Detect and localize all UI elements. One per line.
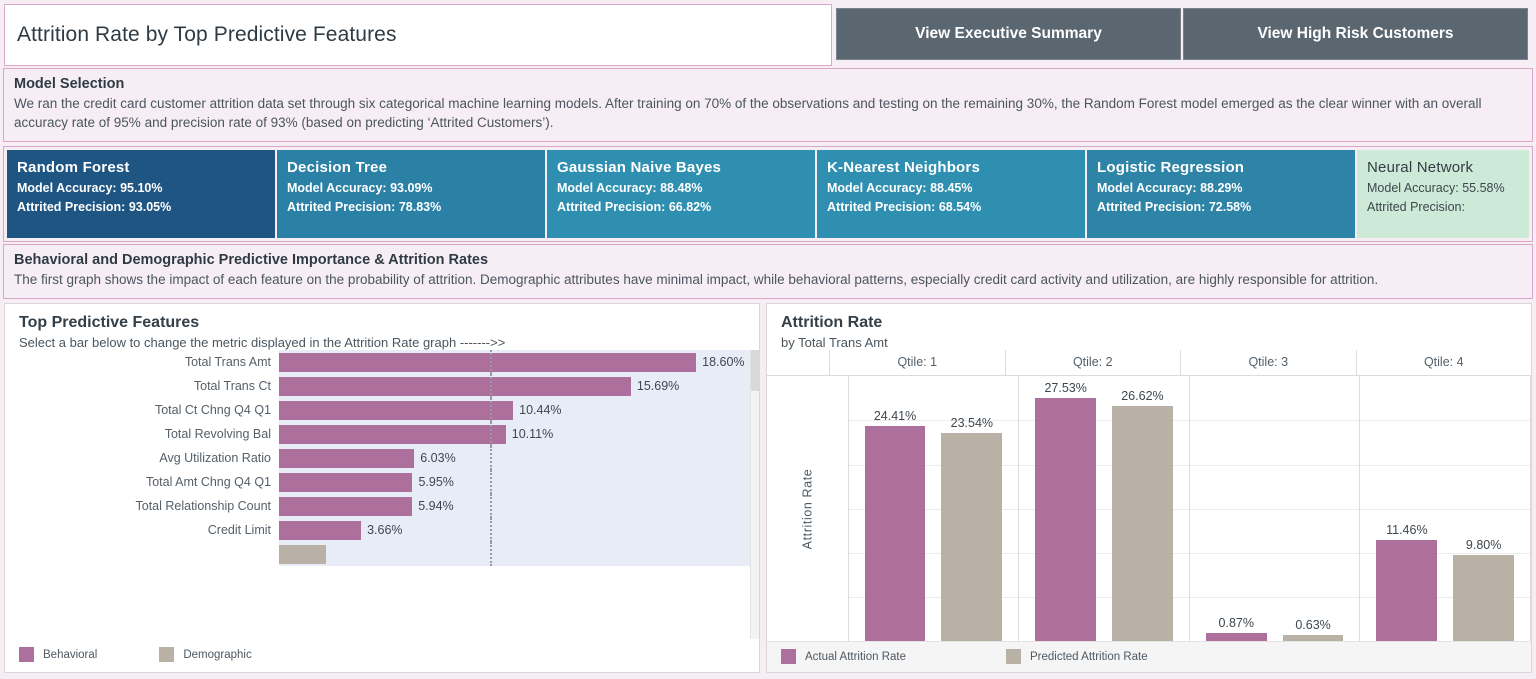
model-accuracy: Model Accuracy: 55.58% — [1367, 179, 1519, 198]
feature-bar-track: 18.60% — [279, 350, 750, 374]
model-name: Gaussian Naive Bayes — [557, 159, 805, 176]
feature-bar-row[interactable]: Total Trans Amt18.60% — [17, 350, 750, 374]
precision-value: 66.82% — [669, 200, 711, 214]
feature-bar-track: 6.03% — [279, 446, 750, 470]
feature-bar-value: 6.03% — [420, 451, 455, 465]
feature-bar-value: 10.44% — [519, 403, 561, 417]
page-title-container: Attrition Rate by Top Predictive Feature… — [4, 4, 832, 66]
feature-bar-value: 3.66% — [367, 523, 402, 537]
quartile-header-cell: Qtile: 4 — [1356, 350, 1532, 375]
chart-title: Top Predictive Features — [19, 314, 759, 332]
attrition-rate-legend: Actual Attrition Rate Predicted Attritio… — [767, 641, 1531, 672]
dashboard-header: Attrition Rate by Top Predictive Feature… — [0, 0, 1536, 68]
precision-value: 68.54% — [939, 200, 981, 214]
legend-swatch-actual — [781, 649, 796, 664]
accuracy-label: Model Accuracy: — [557, 181, 657, 195]
chart-title: Attrition Rate — [781, 314, 1531, 332]
feature-bar-row[interactable]: Credit Limit3.66% — [17, 518, 750, 542]
feature-bar-value: 15.69% — [637, 379, 679, 393]
feature-bar-track: 3.66% — [279, 518, 750, 542]
legend-label: Actual Attrition Rate — [805, 651, 906, 663]
accuracy-label: Model Accuracy: — [287, 181, 387, 195]
quartile-group: 24.41%23.54% — [848, 376, 1019, 641]
model-name: K-Nearest Neighbors — [827, 159, 1075, 176]
horizontal-bar-rows: Total Trans Amt18.60%Total Trans Ct15.69… — [17, 350, 750, 639]
chart-subtitle: by Total Trans Amt — [781, 335, 1531, 350]
y-axis-label: Attrition Rate — [767, 376, 848, 641]
importance-section-panel: Behavioral and Demographic Predictive Im… — [3, 244, 1533, 299]
top-predictive-features-card: Top Predictive Features Select a bar bel… — [4, 303, 760, 673]
quartile-header-row: Qtile: 1Qtile: 2Qtile: 3Qtile: 4 — [767, 350, 1531, 376]
precision-label: Attrited Precision: — [557, 200, 665, 214]
feature-bar-label: Avg Utilization Ratio — [17, 451, 279, 465]
feature-bar-value: 18.60% — [702, 355, 744, 369]
accuracy-label: Model Accuracy: — [1097, 181, 1197, 195]
attrition-bar-wrapper: 0.63% — [1283, 376, 1344, 641]
model-precision: Attrited Precision: 66.82% — [557, 198, 805, 217]
importance-section-body: The first graph shows the impact of each… — [14, 270, 1522, 289]
feature-bar-label: Total Revolving Bal — [17, 427, 279, 441]
accuracy-value: 88.29% — [1200, 181, 1242, 195]
feature-bar[interactable] — [279, 497, 412, 516]
feature-bar-value: 5.95% — [418, 475, 453, 489]
attrition-rate-card: Attrition Rate by Total Trans Amt Qtile:… — [766, 303, 1532, 673]
feature-bar-row[interactable]: Total Amt Chng Q4 Q15.95% — [17, 470, 750, 494]
precision-value: 93.05% — [129, 200, 171, 214]
model-precision: Attrited Precision: 78.83% — [287, 198, 535, 217]
attrition-bar-value: 24.41% — [874, 409, 916, 423]
precision-label: Attrited Precision: — [1097, 200, 1205, 214]
accuracy-value: 88.45% — [930, 181, 972, 195]
feature-bar[interactable] — [279, 473, 412, 492]
feature-bar-value: 5.94% — [418, 499, 453, 513]
chart-subtitle: Select a bar below to change the metric … — [19, 335, 759, 350]
model-accuracy: Model Accuracy: 88.45% — [827, 179, 1075, 198]
attrition-rate-plot: Qtile: 1Qtile: 2Qtile: 3Qtile: 4 Attriti… — [767, 350, 1531, 641]
feature-bar-label: Total Trans Ct — [17, 379, 279, 393]
quartile-header-cell: Qtile: 3 — [1180, 350, 1356, 375]
feature-bar-row[interactable] — [17, 542, 750, 566]
model-precision: Attrited Precision: — [1367, 198, 1519, 217]
model-card-decision-tree[interactable]: Decision Tree Model Accuracy: 93.09% Att… — [277, 150, 545, 238]
feature-bar-row[interactable]: Total Trans Ct15.69% — [17, 374, 750, 398]
model-name: Logistic Regression — [1097, 159, 1345, 176]
model-card-k-nearest-neighbors[interactable]: K-Nearest Neighbors Model Accuracy: 88.4… — [817, 150, 1085, 238]
feature-bar-track: 5.95% — [279, 470, 750, 494]
reference-line — [490, 374, 492, 398]
model-card-gaussian-naive-bayes[interactable]: Gaussian Naive Bayes Model Accuracy: 88.… — [547, 150, 815, 238]
attrition-bar-value: 0.63% — [1295, 618, 1330, 632]
model-selection-title: Model Selection — [14, 76, 1522, 92]
feature-bar-track: 10.11% — [279, 422, 750, 446]
page-title: Attrition Rate by Top Predictive Feature… — [17, 23, 397, 47]
attrition-bar-wrapper: 26.62% — [1112, 376, 1173, 641]
quartile-header-cell: Qtile: 2 — [1005, 350, 1181, 375]
attrition-bar-value: 23.54% — [951, 416, 993, 430]
feature-bar-track: 10.44% — [279, 398, 750, 422]
quartile-header-cell: Qtile: 1 — [829, 350, 1005, 375]
feature-bar-track: 15.69% — [279, 374, 750, 398]
attrition-bar-wrapper: 23.54% — [941, 376, 1002, 641]
view-executive-summary-button[interactable]: View Executive Summary — [836, 8, 1181, 60]
attrition-bar[interactable] — [1206, 633, 1267, 641]
top-predictive-features-plot: Total Trans Amt18.60%Total Trans Ct15.69… — [5, 350, 759, 639]
legend-item-demographic[interactable]: Demographic — [159, 647, 251, 662]
reference-line — [490, 542, 492, 566]
feature-bar[interactable] — [279, 401, 513, 420]
reference-line — [490, 350, 492, 374]
attrition-bar[interactable] — [941, 433, 1002, 641]
feature-bar-label: Total Trans Amt — [17, 355, 279, 369]
accuracy-value: 55.58% — [1462, 181, 1504, 195]
attrition-bar-value: 11.46% — [1386, 523, 1427, 537]
attrition-bar-value: 9.80% — [1466, 538, 1501, 552]
attrition-bar-value: 0.87% — [1219, 616, 1254, 630]
model-precision: Attrited Precision: 72.58% — [1097, 198, 1345, 217]
legend-item-behavioral[interactable]: Behavioral — [19, 647, 97, 662]
legend-item-actual-attrition-rate[interactable]: Actual Attrition Rate — [781, 649, 906, 664]
legend-swatch-behavioral — [19, 647, 34, 662]
precision-value: 78.83% — [399, 200, 441, 214]
legend-swatch-demographic — [159, 647, 174, 662]
feature-bar-label: Total Amt Chng Q4 Q1 — [17, 475, 279, 489]
feature-bar-row[interactable]: Total Relationship Count5.94% — [17, 494, 750, 518]
top-predictive-features-header: Top Predictive Features Select a bar bel… — [5, 304, 759, 350]
model-accuracy: Model Accuracy: 88.29% — [1097, 179, 1345, 198]
accuracy-label: Model Accuracy: — [1367, 181, 1459, 195]
feature-bar-track — [279, 542, 750, 566]
feature-bar-value: 10.11% — [512, 427, 553, 441]
attrition-bar[interactable] — [1112, 406, 1173, 641]
model-name: Neural Network — [1367, 159, 1519, 176]
attrition-bar[interactable] — [1453, 555, 1514, 641]
model-accuracy: Model Accuracy: 93.09% — [287, 179, 535, 198]
legend-label: Predicted Attrition Rate — [1030, 651, 1148, 663]
precision-label: Attrited Precision: — [17, 200, 125, 214]
plot-vertical-scrollbar[interactable] — [750, 350, 759, 639]
feature-bar-track: 5.94% — [279, 494, 750, 518]
feature-bar[interactable] — [279, 521, 361, 540]
model-card-neural-network[interactable]: Neural Network Model Accuracy: 55.58% At… — [1357, 150, 1529, 238]
attrition-bar[interactable] — [1035, 398, 1096, 641]
model-selection-panel: Model Selection We ran the credit card c… — [3, 68, 1533, 142]
model-accuracy: Model Accuracy: 88.48% — [557, 179, 805, 198]
header-nav-buttons: View Executive Summary View High Risk Cu… — [832, 4, 1532, 66]
charts-row: Top Predictive Features Select a bar bel… — [0, 301, 1536, 679]
attrition-bar-value: 27.53% — [1044, 381, 1086, 395]
attrition-bar[interactable] — [865, 426, 926, 641]
attrition-bar-value: 26.62% — [1121, 389, 1163, 403]
model-selection-body: We ran the credit card customer attritio… — [14, 94, 1522, 132]
attrition-bar[interactable] — [1376, 540, 1437, 641]
y-axis-label-text: Attrition Rate — [800, 468, 814, 549]
legend-label: Behavioral — [43, 649, 97, 661]
top-predictive-features-legend: Behavioral Demographic — [5, 639, 759, 672]
model-card-random-forest[interactable]: Random Forest Model Accuracy: 95.10% Att… — [7, 150, 275, 238]
quartile-group: 27.53%26.62% — [1018, 376, 1189, 641]
accuracy-label: Model Accuracy: — [827, 181, 927, 195]
reference-line — [490, 422, 492, 446]
precision-label: Attrited Precision: — [827, 200, 935, 214]
feature-bar[interactable] — [279, 377, 631, 396]
model-name: Random Forest — [17, 159, 265, 176]
accuracy-value: 93.09% — [390, 181, 432, 195]
quartile-bar-groups: 24.41%23.54%27.53%26.62%0.87%0.63%11.46%… — [848, 376, 1531, 641]
feature-bar[interactable] — [279, 425, 506, 444]
reference-line — [490, 398, 492, 422]
model-precision: Attrited Precision: 93.05% — [17, 198, 265, 217]
reference-line — [490, 470, 492, 494]
axis-corner — [767, 350, 829, 375]
model-name: Decision Tree — [287, 159, 535, 176]
feature-bar[interactable] — [279, 449, 414, 468]
attrition-bar-wrapper: 0.87% — [1206, 376, 1267, 641]
importance-section-title: Behavioral and Demographic Predictive Im… — [14, 252, 1522, 268]
feature-bar-label: Credit Limit — [17, 523, 279, 537]
feature-bar[interactable] — [279, 545, 326, 564]
precision-value: 72.58% — [1209, 200, 1251, 214]
reference-line — [490, 494, 492, 518]
quartile-group: 11.46%9.80% — [1359, 376, 1531, 641]
legend-item-predicted-attrition-rate[interactable]: Predicted Attrition Rate — [1006, 649, 1148, 664]
attrition-bar-wrapper: 24.41% — [865, 376, 926, 641]
feature-bar-label: Total Ct Chng Q4 Q1 — [17, 403, 279, 417]
feature-bar-row[interactable]: Total Revolving Bal10.11% — [17, 422, 750, 446]
model-cards-panel: Random Forest Model Accuracy: 95.10% Att… — [3, 146, 1533, 242]
precision-label: Attrited Precision: — [1367, 200, 1465, 214]
feature-bar-row[interactable]: Total Ct Chng Q4 Q110.44% — [17, 398, 750, 422]
feature-bar-row[interactable]: Avg Utilization Ratio6.03% — [17, 446, 750, 470]
reference-line — [490, 446, 492, 470]
model-cards-row: Random Forest Model Accuracy: 95.10% Att… — [7, 150, 1529, 238]
reference-line — [490, 518, 492, 542]
accuracy-value: 88.48% — [660, 181, 702, 195]
attrition-bar-wrapper: 9.80% — [1453, 376, 1514, 641]
accuracy-value: 95.10% — [120, 181, 162, 195]
accuracy-label: Model Accuracy: — [17, 181, 117, 195]
attrition-bar-wrapper: 27.53% — [1035, 376, 1096, 641]
model-accuracy: Model Accuracy: 95.10% — [17, 179, 265, 198]
feature-bar-label: Total Relationship Count — [17, 499, 279, 513]
dashboard-root: Attrition Rate by Top Predictive Feature… — [0, 0, 1536, 679]
legend-label: Demographic — [183, 649, 251, 661]
attrition-bar-wrapper: 11.46% — [1376, 376, 1437, 641]
model-card-logistic-regression[interactable]: Logistic Regression Model Accuracy: 88.2… — [1087, 150, 1355, 238]
feature-bar[interactable] — [279, 353, 696, 372]
legend-swatch-predicted — [1006, 649, 1021, 664]
model-precision: Attrited Precision: 68.54% — [827, 198, 1075, 217]
attrition-bar[interactable] — [1283, 635, 1344, 641]
attrition-rate-header: Attrition Rate by Total Trans Amt — [767, 304, 1531, 350]
view-high-risk-customers-button[interactable]: View High Risk Customers — [1183, 8, 1528, 60]
precision-label: Attrited Precision: — [287, 200, 395, 214]
quartile-group: 0.87%0.63% — [1189, 376, 1360, 641]
plot-row: Attrition Rate 24.41%23.54%27.53%26.62%0… — [767, 376, 1531, 641]
